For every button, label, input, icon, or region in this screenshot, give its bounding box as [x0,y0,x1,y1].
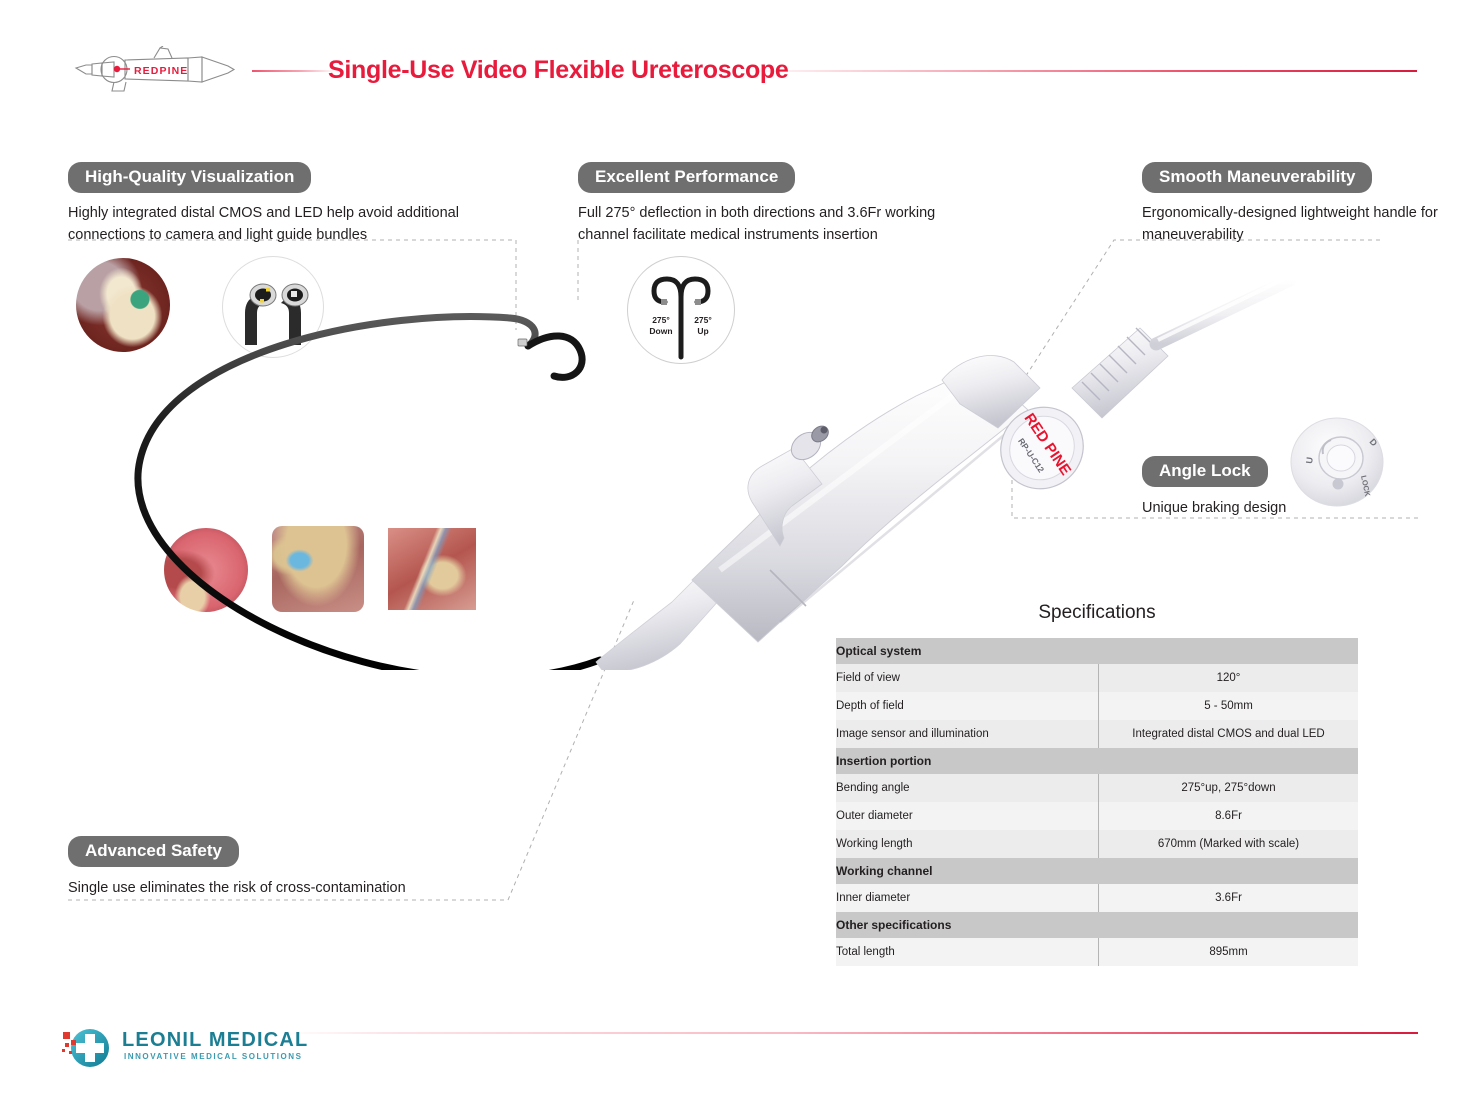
spec-value: 3.6Fr [1099,884,1359,912]
spec-value: 8.6Fr [1099,802,1359,830]
spec-row: Outer diameter 8.6Fr [836,802,1358,830]
spec-group-label: Other specifications [836,912,1358,938]
spec-group-label: Working channel [836,858,1358,884]
leonil-medical-logo: LEONIL MEDICAL INNOVATIVE MEDICAL SOLUTI… [60,1027,280,1075]
spec-row: Bending angle 275°up, 275°down [836,774,1358,802]
spec-group-label: Insertion portion [836,748,1358,774]
spec-value: Integrated distal CMOS and dual LED [1099,720,1359,748]
spec-label: Total length [836,938,1099,966]
feature-performance: Excellent Performance Full 275° deflecti… [578,162,978,246]
feature-maneuverability-body: Ergonomically-designed lightweight handl… [1142,202,1462,246]
spec-row: Working length 670mm (Marked with scale) [836,830,1358,858]
spec-value: 120° [1099,664,1359,692]
spec-group-row: Working channel [836,858,1358,884]
feature-visualization-badge: High-Quality Visualization [68,162,311,193]
spec-value: 670mm (Marked with scale) [1099,830,1359,858]
spec-row: Inner diameter 3.6Fr [836,884,1358,912]
specifications-table: Optical system Field of view 120° Depth … [836,638,1358,966]
insertion-shaft [138,317,600,670]
spec-value: 5 - 50mm [1099,692,1359,720]
spec-group-row: Other specifications [836,912,1358,938]
spec-row: Field of view 120° [836,664,1358,692]
feature-maneuverability: Smooth Maneuverability Ergonomically-des… [1142,162,1462,246]
spec-group-row: Insertion portion [836,748,1358,774]
spec-row: Image sensor and illumination Integrated… [836,720,1358,748]
feature-visualization: High-Quality Visualization Highly integr… [68,162,538,246]
spec-label: Inner diameter [836,884,1099,912]
spec-label: Depth of field [836,692,1099,720]
feature-advanced-safety-badge: Advanced Safety [68,836,239,867]
redpine-logo: REDPINE [68,46,248,94]
spec-label: Image sensor and illumination [836,720,1099,748]
feature-advanced-safety: Advanced Safety Single use eliminates th… [68,836,528,899]
feature-advanced-safety-body: Single use eliminates the risk of cross-… [68,877,528,899]
spec-row: Depth of field 5 - 50mm [836,692,1358,720]
redpine-logo-text: REDPINE [134,65,188,77]
page-title: Single-Use Video Flexible Ureteroscope [328,56,789,85]
feature-visualization-body: Highly integrated distal CMOS and LED he… [68,202,538,246]
footer-brand-name: LEONIL MEDICAL [122,1029,308,1052]
spec-label: Outer diameter [836,802,1099,830]
specifications-title: Specifications [836,602,1358,624]
feature-performance-body: Full 275° deflection in both directions … [578,202,978,246]
header-accent-rule-left [252,70,332,72]
feature-maneuverability-badge: Smooth Maneuverability [1142,162,1372,193]
footer-accent-rule [278,1032,1418,1034]
spec-group-row: Optical system [836,638,1358,664]
spec-row: Total length 895mm [836,938,1358,966]
spec-label: Bending angle [836,774,1099,802]
footer-brand-tagline: INNOVATIVE MEDICAL SOLUTIONS [124,1052,303,1061]
spec-value: 275°up, 275°down [1099,774,1359,802]
specifications-table-body: Optical system Field of view 120° Depth … [836,638,1358,966]
spec-group-label: Optical system [836,638,1358,664]
spec-value: 895mm [1099,938,1359,966]
spec-label: Working length [836,830,1099,858]
umbilical-cable [1156,278,1290,344]
spec-label: Field of view [836,664,1099,692]
feature-performance-badge: Excellent Performance [578,162,795,193]
